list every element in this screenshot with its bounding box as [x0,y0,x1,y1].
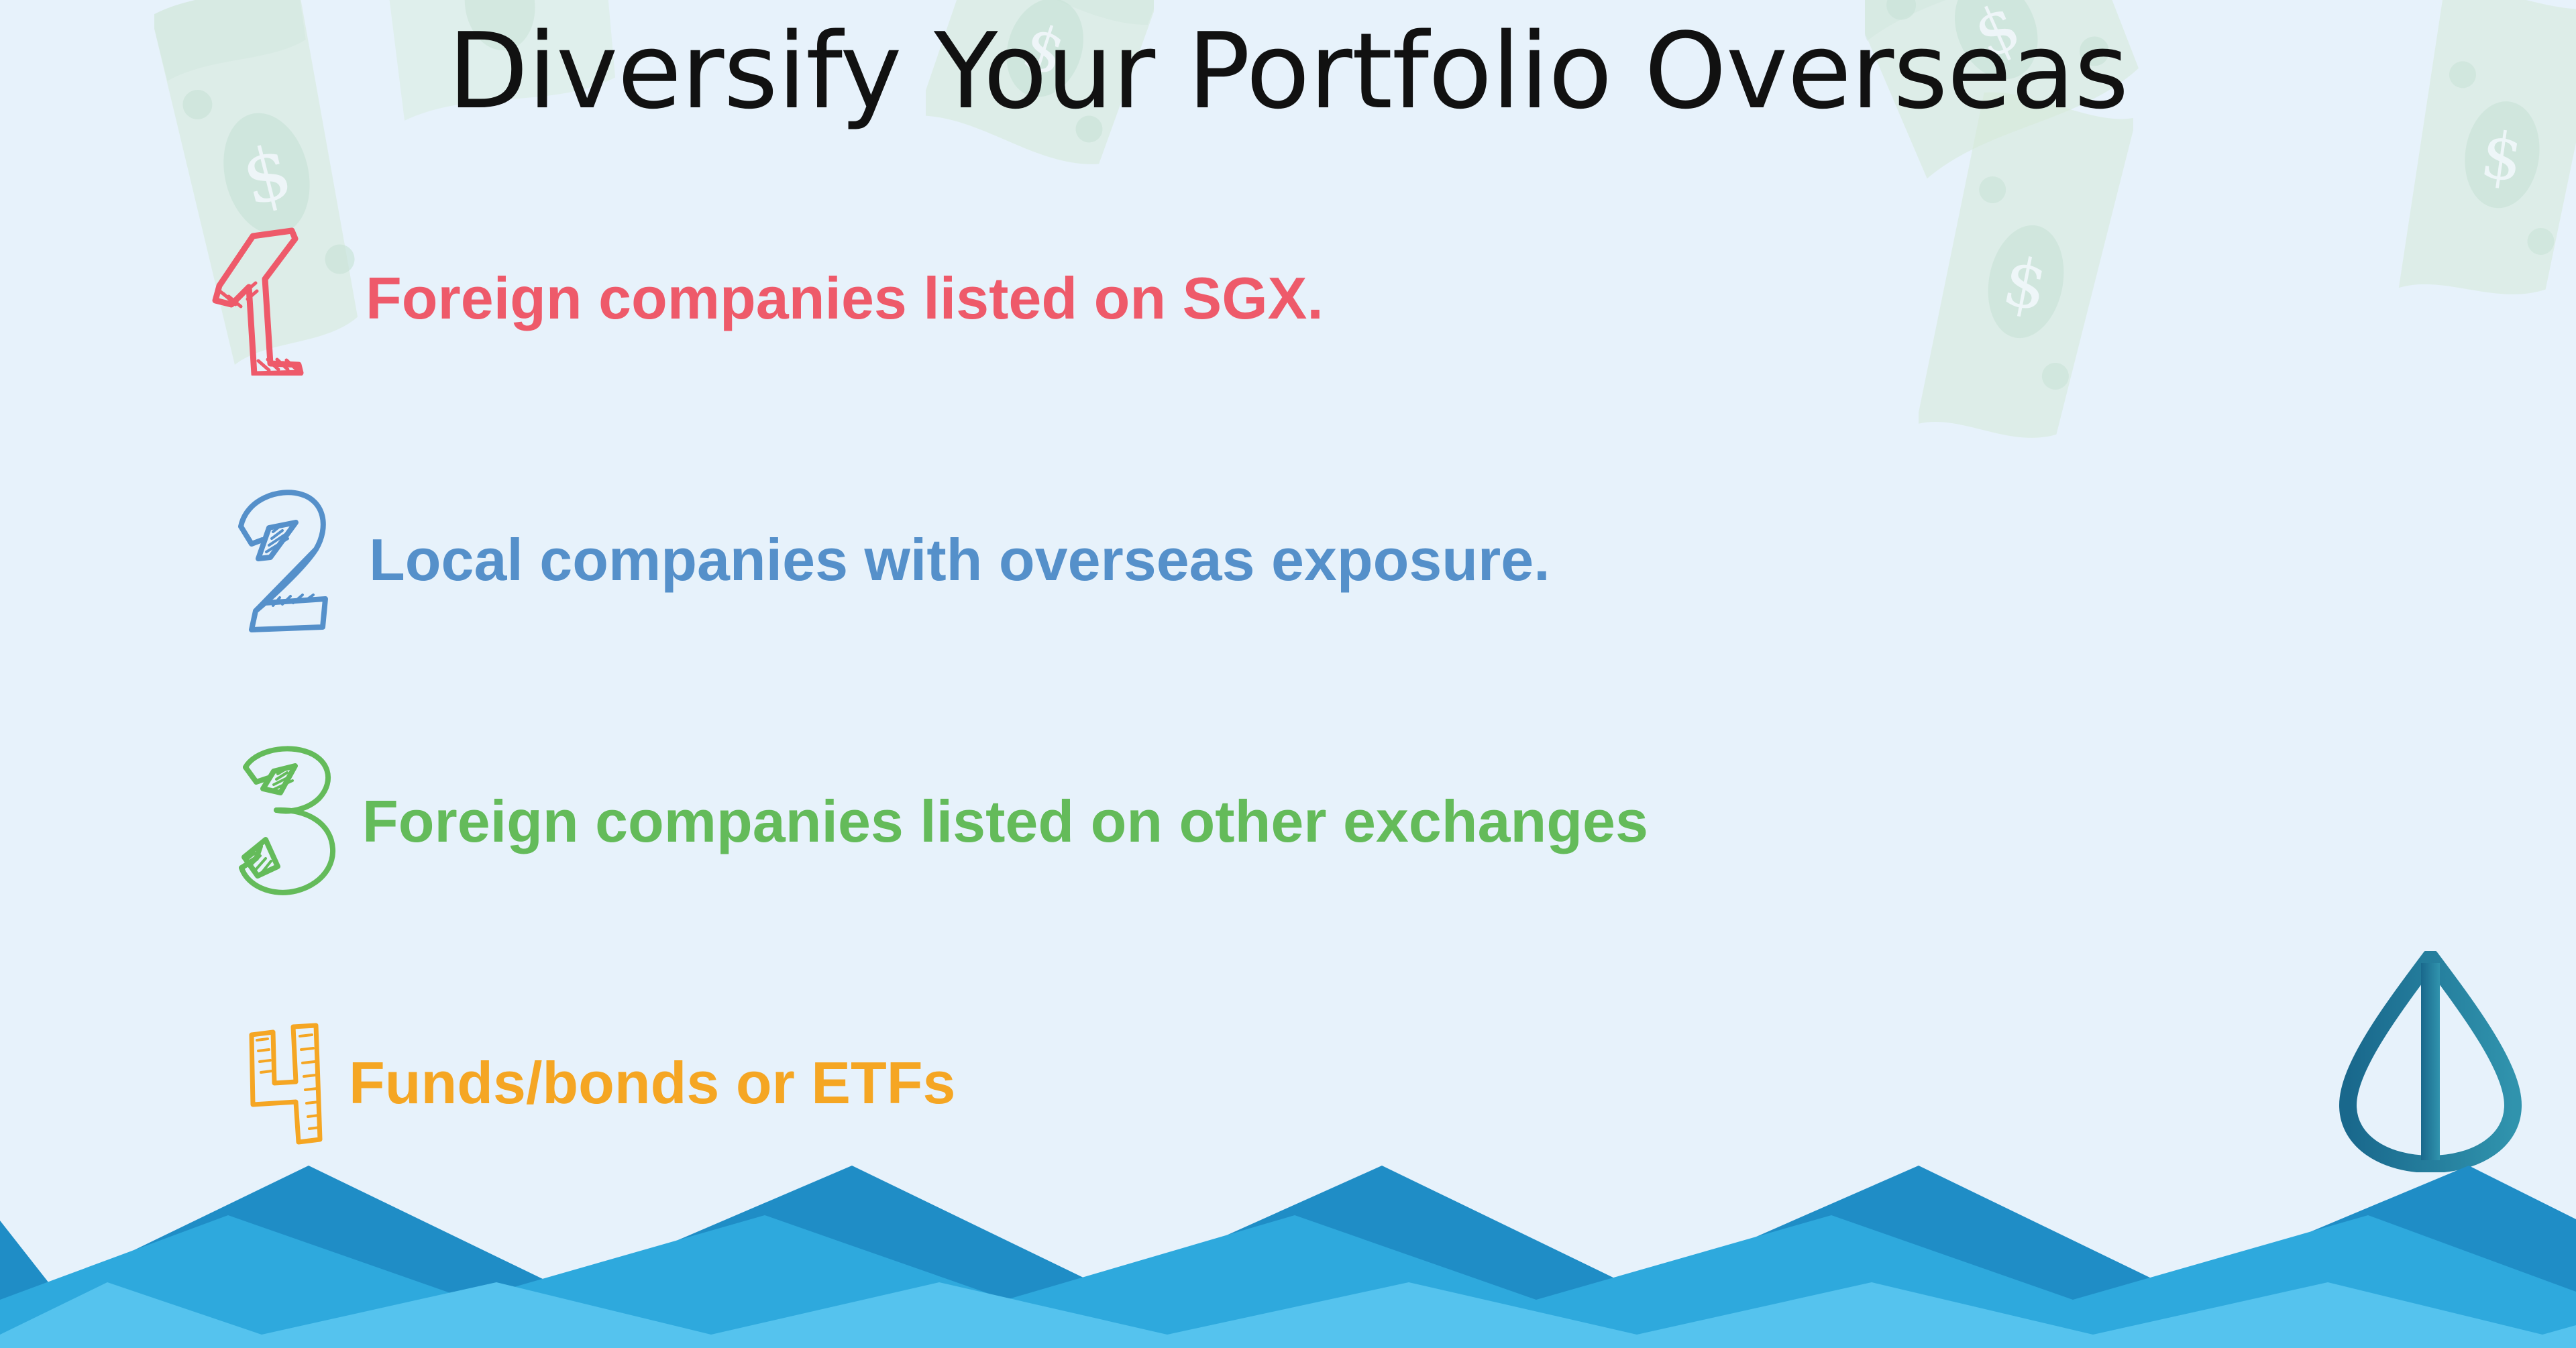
handwritten-number-three-icon [231,744,349,899]
benefits-list: Foreign companies listed on SGX. [201,221,2415,1160]
list-item: Foreign companies listed on SGX. [201,221,2415,376]
svg-text:$: $ [233,127,300,222]
page-title: Diversify Your Portfolio Overseas [0,19,2576,123]
slide-canvas: $ $ $ [0,0,2576,1348]
list-item-label: Local companies with overseas exposure. [369,529,1550,591]
handwritten-number-four-icon [241,1023,342,1143]
list-item: Local companies with overseas exposure. [228,483,2415,637]
list-item-label: Foreign companies listed on other exchan… [362,791,1648,852]
list-item-label: Foreign companies listed on SGX. [366,268,1324,329]
list-item-label: Funds/bonds or ETFs [349,1052,955,1114]
handwritten-number-one-icon [201,221,332,376]
zigzag-wave-icon [0,1133,2576,1348]
svg-text:$: $ [2476,117,2527,196]
list-item: Foreign companies listed on other exchan… [231,744,2415,899]
handwritten-number-two-icon [228,483,345,637]
